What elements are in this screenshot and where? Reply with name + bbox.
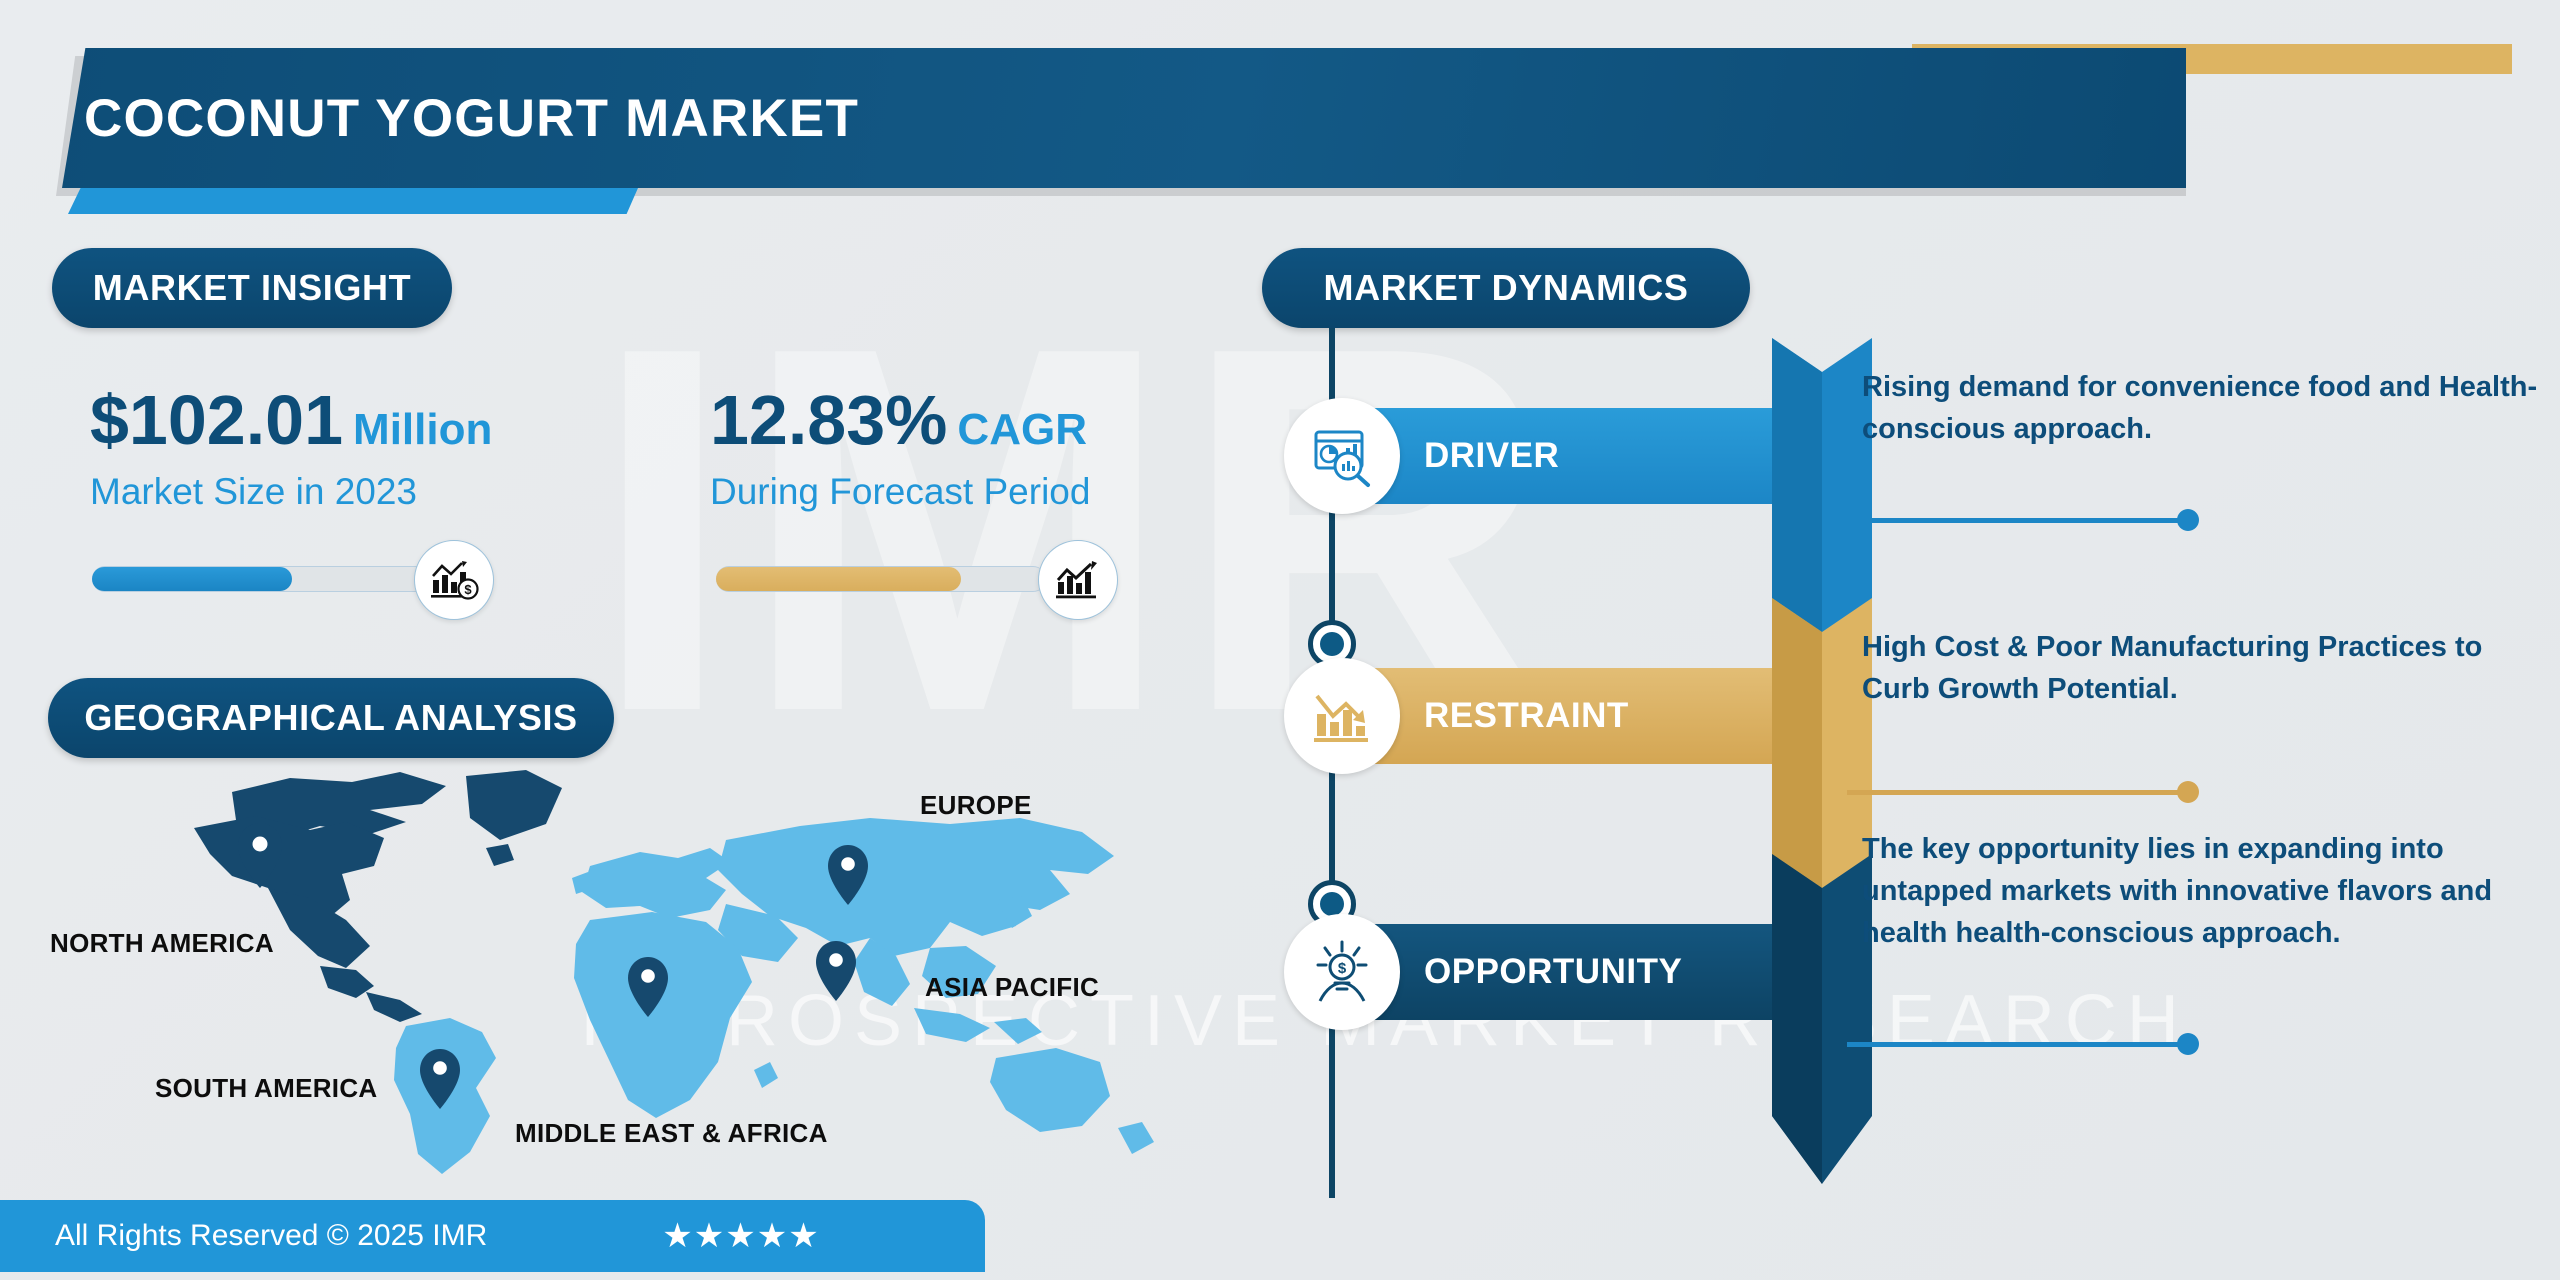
opportunity-text: The key opportunity lies in expanding in… <box>1862 828 2542 954</box>
header-underbar <box>68 188 638 214</box>
market-insight-pill: MARKET INSIGHT <box>52 248 452 328</box>
restraint-text: High Cost & Poor Manufacturing Practices… <box>1862 626 2542 710</box>
header-bar: COCONUT YOGURT MARKET <box>62 48 2186 188</box>
cagr-progress-track <box>716 566 1046 592</box>
geographical-analysis-pill: GEOGRAPHICAL ANALYSIS <box>48 678 614 758</box>
market-dynamics-pill: MARKET DYNAMICS <box>1262 248 1750 328</box>
opportunity-leader-dot <box>2177 1033 2199 1055</box>
market-dynamics-timeline: DRIVER Rising demand for convenience foo… <box>1262 328 2560 1280</box>
market-dynamics-label: MARKET DYNAMICS <box>1324 267 1689 309</box>
market-size-progress-fill <box>92 567 292 591</box>
cagr-value-row: 12.83%CAGR <box>710 385 1270 455</box>
driver-text: Rising demand for convenience food and H… <box>1862 366 2542 450</box>
market-size-unit: Million <box>353 405 492 454</box>
market-size-subtitle: Market Size in 2023 <box>90 471 680 513</box>
header-banner: COCONUT YOGURT MARKET <box>0 48 2190 188</box>
market-size-progress-track <box>92 566 432 592</box>
lightbulb-dollar-icon: $ <box>1284 914 1400 1030</box>
opportunity-label: OPPORTUNITY <box>1424 924 1682 1020</box>
map-pin-asia-pacific <box>816 941 856 1001</box>
region-australia <box>990 1048 1110 1132</box>
map-label-middle-east-africa: MIDDLE EAST & AFRICA <box>515 1118 828 1149</box>
copyright-text: All Rights Reserved © 2025 IMR <box>55 1219 487 1253</box>
restraint-label: RESTRAINT <box>1424 668 1629 764</box>
map-label-asia-pacific: ASIA PACIFIC <box>925 972 1099 1003</box>
market-size-value-row: $102.01Million <box>90 385 680 455</box>
region-africa <box>574 912 752 1118</box>
driver-label: DRIVER <box>1424 408 1559 504</box>
infographic-canvas: IMR INTROSPECTIVE MARKET RESEARCH COCONU… <box>0 0 2560 1280</box>
market-insight-label: MARKET INSIGHT <box>93 267 411 309</box>
svg-text:$: $ <box>1338 960 1347 977</box>
metric-market-size: $102.01Million Market Size in 2023 <box>90 385 680 513</box>
market-size-value: $102.01 <box>90 381 343 459</box>
map-label-south-america: SOUTH AMERICA <box>155 1073 378 1104</box>
cagr-progress-fill <box>716 567 961 591</box>
geographical-analysis-label: GEOGRAPHICAL ANALYSIS <box>84 697 577 739</box>
driver-arrow <box>1332 408 1832 504</box>
region-europe <box>582 848 730 918</box>
map-label-north-america: NORTH AMERICA <box>50 928 274 959</box>
cagr-unit: CAGR <box>957 405 1087 454</box>
metric-cagr: 12.83%CAGR During Forecast Period <box>710 385 1270 513</box>
restraint-leader-dot <box>2177 781 2199 803</box>
opportunity-chevron <box>1772 854 1872 1184</box>
rating-stars: ★★★★★ <box>662 1216 819 1256</box>
growth-chart-arrow-icon <box>1038 540 1118 620</box>
bar-chart-dollar-icon: $ <box>414 540 494 620</box>
driver-leader-line <box>1847 518 2197 523</box>
map-label-europe: EUROPE <box>920 790 1032 821</box>
page-title: COCONUT YOGURT MARKET <box>84 88 859 149</box>
footer-bar: All Rights Reserved © 2025 IMR ★★★★★ <box>0 1200 985 1272</box>
opportunity-leader-line <box>1847 1042 2197 1047</box>
presentation-search-icon <box>1284 398 1400 514</box>
restraint-leader-line <box>1847 790 2197 795</box>
cagr-subtitle: During Forecast Period <box>710 471 1270 513</box>
svg-text:$: $ <box>464 582 472 597</box>
declining-bar-chart-icon <box>1284 658 1400 774</box>
driver-leader-dot <box>2177 509 2199 531</box>
cagr-value: 12.83% <box>710 381 947 459</box>
